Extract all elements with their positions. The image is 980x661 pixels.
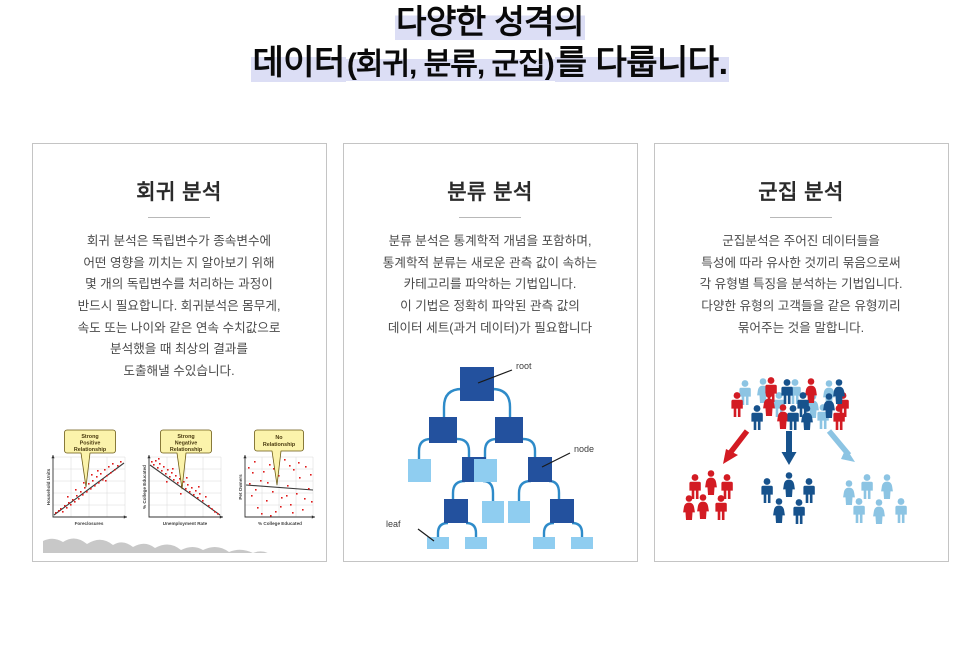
title-line-1-text: 다양한 성격의 [395, 3, 585, 40]
tree-root-label: root [516, 361, 532, 371]
tree-leaf [533, 537, 555, 549]
card-regression: 회귀 분석 회귀 분석은 독립변수가 종속변수에 어떤 영향을 끼치는 지 알아… [32, 143, 327, 562]
card-row: 회귀 분석 회귀 분석은 독립변수가 종속변수에 어떤 영향을 끼치는 지 알아… [0, 143, 980, 563]
title-line-2-parenthetical: (회귀, 분류, 군집) [346, 48, 555, 81]
y-axis-label-1: Household Units [46, 468, 51, 505]
x-axis-label-2: Unemployment Rate [163, 521, 208, 526]
cluster-lightblue [843, 474, 907, 524]
title-line-2: 데이터(회귀, 분류, 군집)를 다룹니다. [0, 44, 980, 82]
card-clustering-body: 군집분석은 주어진 데이터들을 특성에 따라 유사한 것끼리 묶음으로써 각 유… [671, 231, 931, 339]
decision-tree-figure: root node leaf [344, 353, 637, 549]
x-axis-label-1: Foreclosures [75, 521, 104, 526]
callout-line-1: No [275, 435, 283, 441]
card-clustering: 군집 분석 군집분석은 주어진 데이터들을 특성에 따라 유사한 것끼리 묶음으… [654, 143, 949, 562]
tree-node-label: node [574, 444, 594, 454]
card-regression-body: 회귀 분석은 독립변수가 종속변수에 어떤 영향을 끼치는 지 알아보기 위해 … [49, 231, 309, 383]
tree-leaf [465, 537, 487, 549]
card-clustering-divider [770, 217, 832, 218]
y-axis-label-3: Pet Owners [238, 474, 243, 500]
cluster-arrows [723, 431, 855, 465]
mixed-crowd [731, 377, 848, 430]
callout-line-2: Negative [175, 441, 197, 447]
cluster-red [683, 470, 733, 520]
title-line-1: 다양한 성격의 [0, 4, 980, 41]
decision-tree-svg: root node leaf [374, 353, 606, 549]
card-regression-title: 회귀 분석 [136, 176, 222, 206]
tree-leaf [474, 459, 497, 482]
tree-root-node [460, 367, 494, 401]
y-axis-label-2: % College Educated [142, 465, 147, 509]
tree-node [444, 499, 468, 523]
card-regression-divider [148, 217, 210, 218]
card-classification-body: 분류 분석은 통계학적 개념을 포함하며, 통계학적 분류는 새로운 관측 값이… [360, 231, 620, 339]
tree-node [495, 417, 523, 443]
tree-node [550, 499, 574, 523]
regression-figure: Strong Positive Relationship Household U… [33, 425, 326, 553]
card-classification: 분류 분석 분류 분석은 통계학적 개념을 포함하며, 통계학적 분류는 새로운… [343, 143, 638, 562]
tree-leaf [408, 459, 431, 482]
page-title: 다양한 성격의 데이터(회귀, 분류, 군집)를 다룹니다. [0, 0, 980, 82]
card-classification-divider [459, 217, 521, 218]
card-clustering-title: 군집 분석 [758, 176, 844, 206]
callout-line-3: Relationship [170, 447, 203, 453]
clustering-figure [655, 365, 948, 551]
arrow-lightblue [829, 431, 855, 462]
tree-leaf [571, 537, 593, 549]
clustering-svg [683, 365, 919, 551]
tree-leaf-label: leaf [386, 519, 401, 529]
card-classification-title: 분류 분석 [447, 176, 533, 206]
arrow-darkblue [782, 431, 797, 465]
x-axis-label-3: % College Educated [258, 521, 302, 526]
callout-line-1: Strong [81, 434, 98, 440]
tree-nodes [408, 367, 593, 549]
regression-scatter-svg: Strong Positive Relationship Household U… [39, 425, 319, 553]
tree-leaf [482, 501, 504, 523]
title-line-2-suffix: 를 다룹니다. [555, 44, 729, 82]
arrow-red [723, 431, 747, 464]
tree-node [429, 417, 457, 443]
callout-line-1: Strong [177, 434, 194, 440]
tree-node-highlighted [528, 457, 552, 482]
tree-leaf [508, 501, 530, 523]
callout-line-3: Relationship [74, 447, 107, 453]
title-line-2-prefix: 데이터 [251, 44, 345, 82]
cluster-darkblue [761, 472, 814, 524]
callout-line-2: Relationship [263, 442, 296, 448]
callout-line-2: Positive [80, 441, 101, 447]
